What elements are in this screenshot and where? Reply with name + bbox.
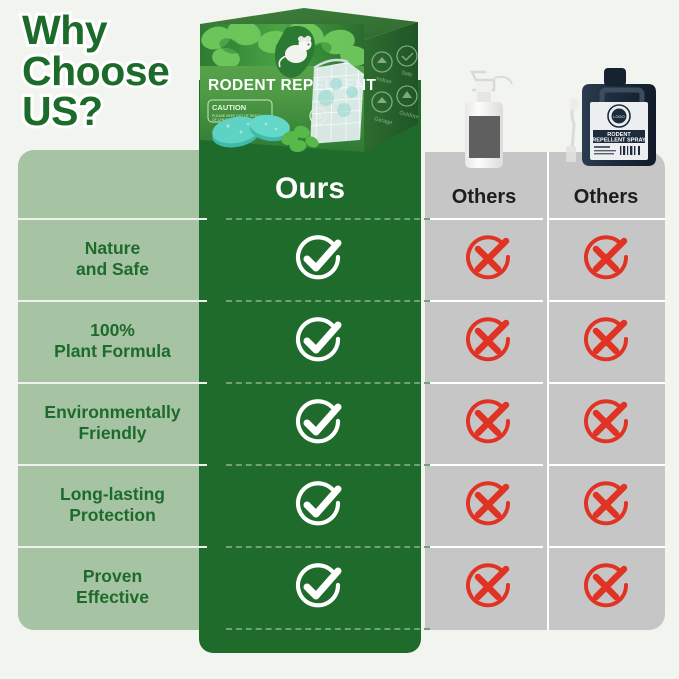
column-header-other-2: Others xyxy=(547,186,665,209)
cross-circle-icon xyxy=(460,395,516,451)
row-separator xyxy=(18,546,207,548)
feature-label-line-2: and Safe xyxy=(76,259,149,280)
other-1-cell xyxy=(429,464,547,546)
feature-label-line-2: Protection xyxy=(60,505,165,526)
svg-text:LOGO: LOGO xyxy=(613,114,625,119)
other-1-cell xyxy=(429,218,547,300)
row-separator xyxy=(18,464,207,466)
title-line-1: Why xyxy=(22,10,212,51)
row-separator xyxy=(226,218,430,220)
cross-circle-icon xyxy=(578,395,634,451)
other-2-cell xyxy=(547,300,665,382)
row-separator xyxy=(547,546,665,548)
ours-cell xyxy=(207,464,429,546)
ours-cell xyxy=(207,382,429,464)
svg-text:CAUTION: CAUTION xyxy=(212,103,246,112)
table-row: 100% Plant Formula xyxy=(18,300,665,382)
row-separator xyxy=(226,464,430,466)
row-separator xyxy=(226,382,430,384)
check-circle-icon xyxy=(290,395,346,451)
check-circle-icon xyxy=(290,477,346,533)
cross-circle-icon xyxy=(460,559,516,615)
column-header-ours: Ours xyxy=(199,172,421,206)
row-separator xyxy=(226,300,430,302)
cross-circle-icon xyxy=(578,477,634,533)
feature-label-line-1: Proven xyxy=(76,566,149,587)
row-separator xyxy=(547,382,665,384)
feature-label-line-2: Effective xyxy=(76,587,149,608)
row-separator xyxy=(425,300,543,302)
ours-cell xyxy=(207,300,429,382)
check-circle-icon xyxy=(290,231,346,287)
feature-label: Nature and Safe xyxy=(18,218,207,300)
column-header-other-1: Others xyxy=(425,186,543,209)
row-separator xyxy=(18,300,207,302)
feature-label-line-1: Environmentally xyxy=(44,402,180,423)
title-line-3: US? xyxy=(22,91,212,132)
other-1-cell xyxy=(429,546,547,628)
feature-label: Long-lasting Protection xyxy=(18,464,207,546)
row-separator xyxy=(547,464,665,466)
row-separator xyxy=(18,218,207,220)
cross-circle-icon xyxy=(578,559,634,615)
title-line-2: Choose xyxy=(22,51,212,92)
row-separator xyxy=(547,218,665,220)
row-separator xyxy=(425,546,543,548)
comparison-table: Nature and Safe xyxy=(18,150,665,630)
table-row: Proven Effective xyxy=(18,546,665,628)
ours-cell xyxy=(207,546,429,628)
product-box-image: RODENT REPELLENT CAUTION PLEASE KEEP OUT… xyxy=(186,6,434,166)
cross-circle-icon xyxy=(460,477,516,533)
row-separator xyxy=(226,628,430,630)
table-row: Environmentally Friendly xyxy=(18,382,665,464)
page-title: Why Choose US? xyxy=(22,10,212,132)
ours-cell xyxy=(207,218,429,300)
feature-label: Environmentally Friendly xyxy=(18,382,207,464)
other-2-cell xyxy=(547,382,665,464)
column-divider xyxy=(547,152,549,630)
row-separator xyxy=(425,218,543,220)
other-1-cell xyxy=(429,382,547,464)
row-separator xyxy=(226,546,430,548)
cross-circle-icon xyxy=(578,313,634,369)
other-1-cell xyxy=(429,300,547,382)
svg-text:REPELLENT SPRAY: REPELLENT SPRAY xyxy=(592,138,646,144)
feature-label-line-1: Nature xyxy=(76,238,149,259)
feature-label-line-1: Long-lasting xyxy=(60,484,165,505)
feature-label-line-1: 100% xyxy=(54,320,171,341)
other-2-cell xyxy=(547,464,665,546)
comparison-infographic: RODENT REPELLENT CAUTION PLEASE KEEP OUT… xyxy=(0,0,679,679)
cross-circle-icon xyxy=(578,231,634,287)
feature-label-line-2: Plant Formula xyxy=(54,341,171,362)
table-row: Nature and Safe xyxy=(18,218,665,300)
feature-label-line-2: Friendly xyxy=(44,423,180,444)
check-circle-icon xyxy=(290,559,346,615)
cross-circle-icon xyxy=(460,231,516,287)
row-separator xyxy=(425,382,543,384)
feature-label: 100% Plant Formula xyxy=(18,300,207,382)
row-separator xyxy=(425,464,543,466)
other-2-cell xyxy=(547,546,665,628)
cross-circle-icon xyxy=(460,313,516,369)
other-2-cell xyxy=(547,218,665,300)
feature-label: Proven Effective xyxy=(18,546,207,628)
row-separator xyxy=(18,382,207,384)
table-row: Long-lasting Protection xyxy=(18,464,665,546)
check-circle-icon xyxy=(290,313,346,369)
row-separator xyxy=(547,300,665,302)
